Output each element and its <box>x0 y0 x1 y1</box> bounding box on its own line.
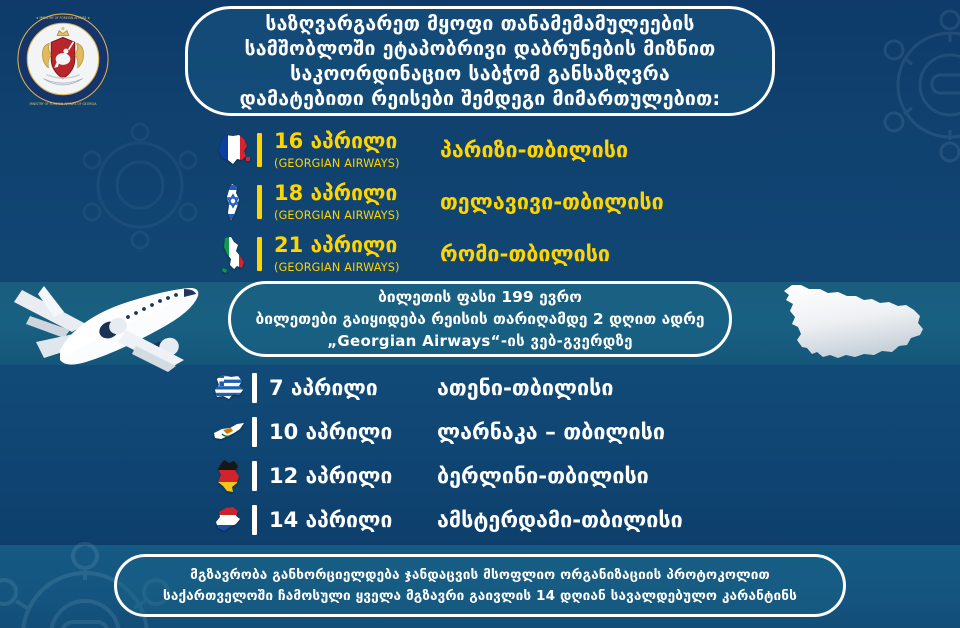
flight-route: რომი-თბილისი <box>440 242 610 267</box>
footer-line: საქართველოში ჩამოსული ყველა მგზავრი გაივ… <box>163 586 797 607</box>
flight-row: 10 აპრილი ლარნაკა – თბილისი <box>208 410 683 454</box>
flight-date: 16 აპრილი <box>274 129 397 153</box>
netherlands-flag-icon <box>208 505 250 535</box>
ministry-of-foreign-affairs-georgia-emblem: ★ MINISTRY OF FOREIGN AFFAIRS ★ MINISTRY… <box>14 10 112 108</box>
header-announcement-box: საზღვარგარეთ მყოფი თანამემამულეების სამშ… <box>185 6 775 116</box>
header-line: სამშობლოში ეტაპობრივი დაბრუნების მიზნით <box>245 36 716 61</box>
flight-date-block: 10 აპრილი <box>269 421 417 443</box>
row-divider <box>252 505 257 535</box>
georgia-country-map <box>768 272 946 372</box>
svg-text:MINISTRY OF FOREIGN AFFAIRS OF: MINISTRY OF FOREIGN AFFAIRS OF GEORGIA <box>30 102 98 106</box>
footer-line: მგზავრობა განხორციელდება ჯანდაცვის მსოფლ… <box>190 565 770 586</box>
quarantine-notice-box: მგზავრობა განხორციელდება ჯანდაცვის მსოფლ… <box>114 554 846 617</box>
flight-route: ამსტერდამი-თბილისი <box>437 508 683 533</box>
price-line: „Georgian Airways“-ის ვებ-გვერდზე <box>327 330 633 352</box>
row-divider <box>252 417 257 447</box>
infographic-canvas: ★ MINISTRY OF FOREIGN AFFAIRS ★ MINISTRY… <box>0 0 960 628</box>
header-line: საკოორდინაციო საბჭომ განსაზღვრა <box>290 61 670 86</box>
flight-route: ათენი-თბილისი <box>437 376 613 401</box>
flight-list-secondary: 7 აპრილი ათენი-თბილისი 10 აპრილი ლარნაკა… <box>208 366 683 542</box>
ticket-price-box: ბილეთის ფასი 199 ევრო ბილეთები გაიყიდება… <box>228 281 732 357</box>
flight-list-primary: 16 აპრილი (GEORGIAN AIRWAYS) პარიზი-თბილ… <box>213 124 664 280</box>
flight-date: 18 აპრილი <box>274 181 397 205</box>
airplane-illustration <box>8 268 232 380</box>
header-line: დამატებითი რეისები შემდეგი მიმართულებით: <box>240 86 721 111</box>
cyprus-flag-icon <box>208 420 250 444</box>
header-line: საზღვარგარეთ მყოფი თანამემამულეების <box>265 11 694 36</box>
flight-date-block: 14 აპრილი <box>269 509 417 531</box>
germany-flag-icon <box>208 458 250 494</box>
israel-flag-icon <box>213 183 255 221</box>
flight-carrier: (GEORGIAN AIRWAYS) <box>274 261 400 274</box>
flight-route: ლარნაკა – თბილისი <box>437 420 665 445</box>
flight-date-block: 16 აპრილი (GEORGIAN AIRWAYS) <box>274 130 426 171</box>
flight-date-block: 12 აპრილი <box>269 465 417 487</box>
row-divider <box>257 133 262 167</box>
row-divider <box>252 373 257 403</box>
flight-date-block: 18 აპრილი (GEORGIAN AIRWAYS) <box>274 182 426 223</box>
flight-row: 12 აპრილი ბერლინი-თბილისი <box>208 454 683 498</box>
price-line: ბილეთები გაიყიდება რეისის თარიღამდე 2 დღ… <box>256 308 705 330</box>
flight-date-block: 7 აპრილი <box>269 377 417 399</box>
flight-route: თელავივი-თბილისი <box>440 190 664 215</box>
flight-date: 14 აპრილი <box>269 508 392 532</box>
flight-row: 14 აპრილი ამსტერდამი-თბილისი <box>208 498 683 542</box>
flight-row: 16 აპრილი (GEORGIAN AIRWAYS) პარიზი-თბილ… <box>213 124 664 176</box>
row-divider <box>252 461 257 491</box>
row-divider <box>257 185 262 219</box>
flight-date: 7 აპრილი <box>269 376 378 400</box>
flight-carrier: (GEORGIAN AIRWAYS) <box>274 209 400 222</box>
flight-carrier: (GEORGIAN AIRWAYS) <box>274 157 400 170</box>
svg-text:★ MINISTRY OF FOREIGN AFFAIRS: ★ MINISTRY OF FOREIGN AFFAIRS ★ <box>36 16 91 20</box>
flight-row: 18 აპრილი (GEORGIAN AIRWAYS) თელავივი-თბ… <box>213 176 664 228</box>
france-flag-icon <box>213 133 255 167</box>
flight-route: ბერლინი-თბილისი <box>437 464 649 489</box>
flight-row: 7 აპრილი ათენი-თბილისი <box>208 366 683 410</box>
flight-date: 12 აპრილი <box>269 464 392 488</box>
flight-date: 21 აპრილი <box>274 233 397 257</box>
flight-row: 21 აპრილი (GEORGIAN AIRWAYS) რომი-თბილის… <box>213 228 664 280</box>
greece-flag-icon <box>208 373 250 403</box>
flight-date: 10 აპრილი <box>269 420 392 444</box>
row-divider <box>257 237 262 271</box>
price-line: ბილეთის ფასი 199 ევრო <box>378 286 582 308</box>
flight-route: პარიზი-თბილისი <box>440 138 628 163</box>
flight-date-block: 21 აპრილი (GEORGIAN AIRWAYS) <box>274 234 426 275</box>
